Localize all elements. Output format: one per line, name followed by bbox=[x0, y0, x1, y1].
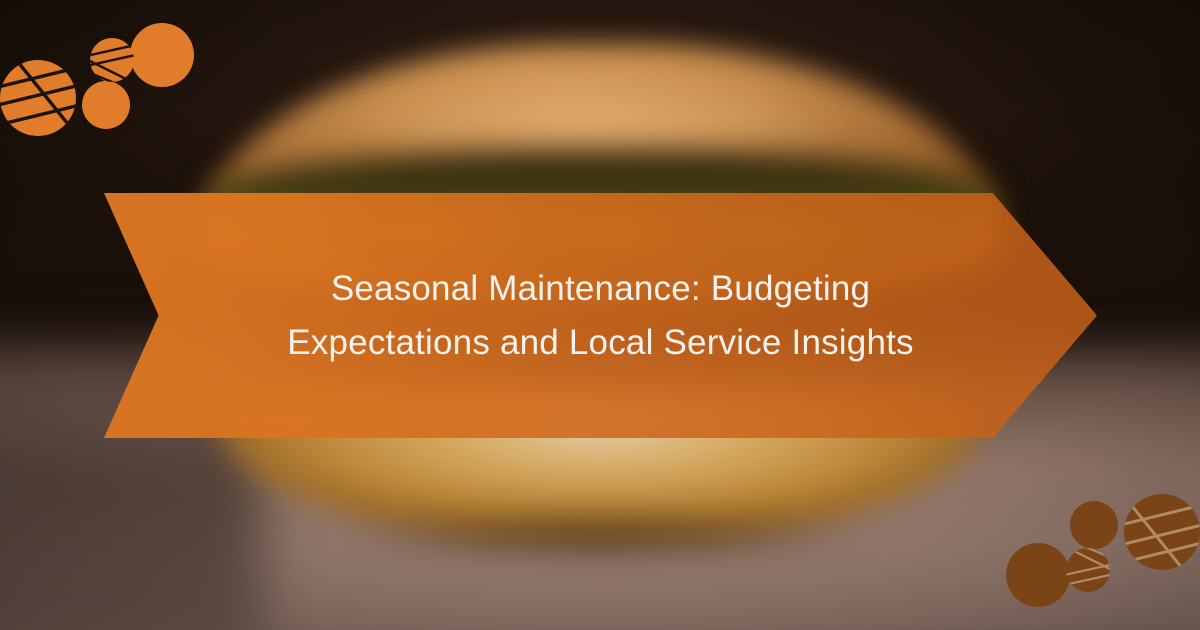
page-title: Seasonal Maintenance: Budgeting Expectat… bbox=[104, 262, 1097, 368]
banner-canvas: Seasonal Maintenance: Budgeting Expectat… bbox=[0, 0, 1200, 630]
title-ribbon: Seasonal Maintenance: Budgeting Expectat… bbox=[104, 193, 1097, 438]
